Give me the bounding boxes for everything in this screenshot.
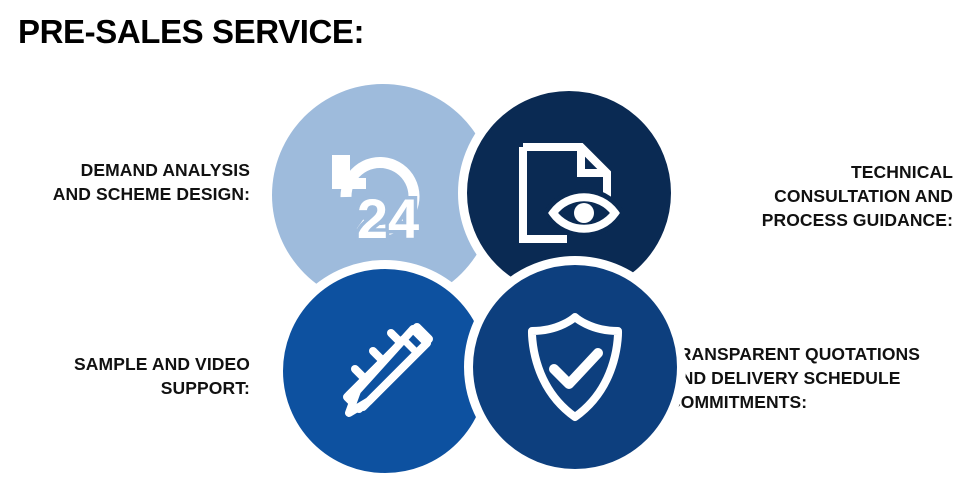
node-sample-video-support[interactable] (274, 260, 496, 482)
label-transparent-quotations: TRANSPARENT QUOTATIONS AND DELIVERY SCHE… (668, 342, 960, 414)
label-demand-analysis: DEMAND ANALYSIS AND SCHEME DESIGN: (10, 158, 250, 206)
label-line: PROCESS GUIDANCE: (727, 208, 953, 232)
label-line: DEMAND ANALYSIS (10, 158, 250, 182)
pencil-ruler-icon (283, 269, 487, 473)
label-line: TRANSPARENT QUOTATIONS (668, 342, 960, 366)
label-line: TECHNICAL (727, 160, 953, 184)
label-line: AND DELIVERY SCHEDULE (668, 366, 960, 390)
page-title: PRE-SALES SERVICE: (18, 14, 364, 50)
label-sample-video-support: SAMPLE AND VIDEO SUPPORT: (10, 352, 250, 400)
label-technical-consultation: TECHNICAL CONSULTATION AND PROCESS GUIDA… (727, 160, 953, 232)
circle-cluster: 24 (262, 78, 682, 490)
node-transparent-quotations[interactable] (464, 256, 686, 478)
label-line: AND SCHEME DESIGN: (10, 182, 250, 206)
shield-check-icon (473, 265, 677, 469)
label-line: CONSULTATION AND (727, 184, 953, 208)
label-line: SUPPORT: (10, 376, 250, 400)
infographic-page: PRE-SALES SERVICE: 24 (0, 0, 960, 498)
label-line: COMMITMENTS: (668, 390, 960, 414)
label-line: SAMPLE AND VIDEO (10, 352, 250, 376)
icon-24-text: 24 (357, 187, 419, 249)
